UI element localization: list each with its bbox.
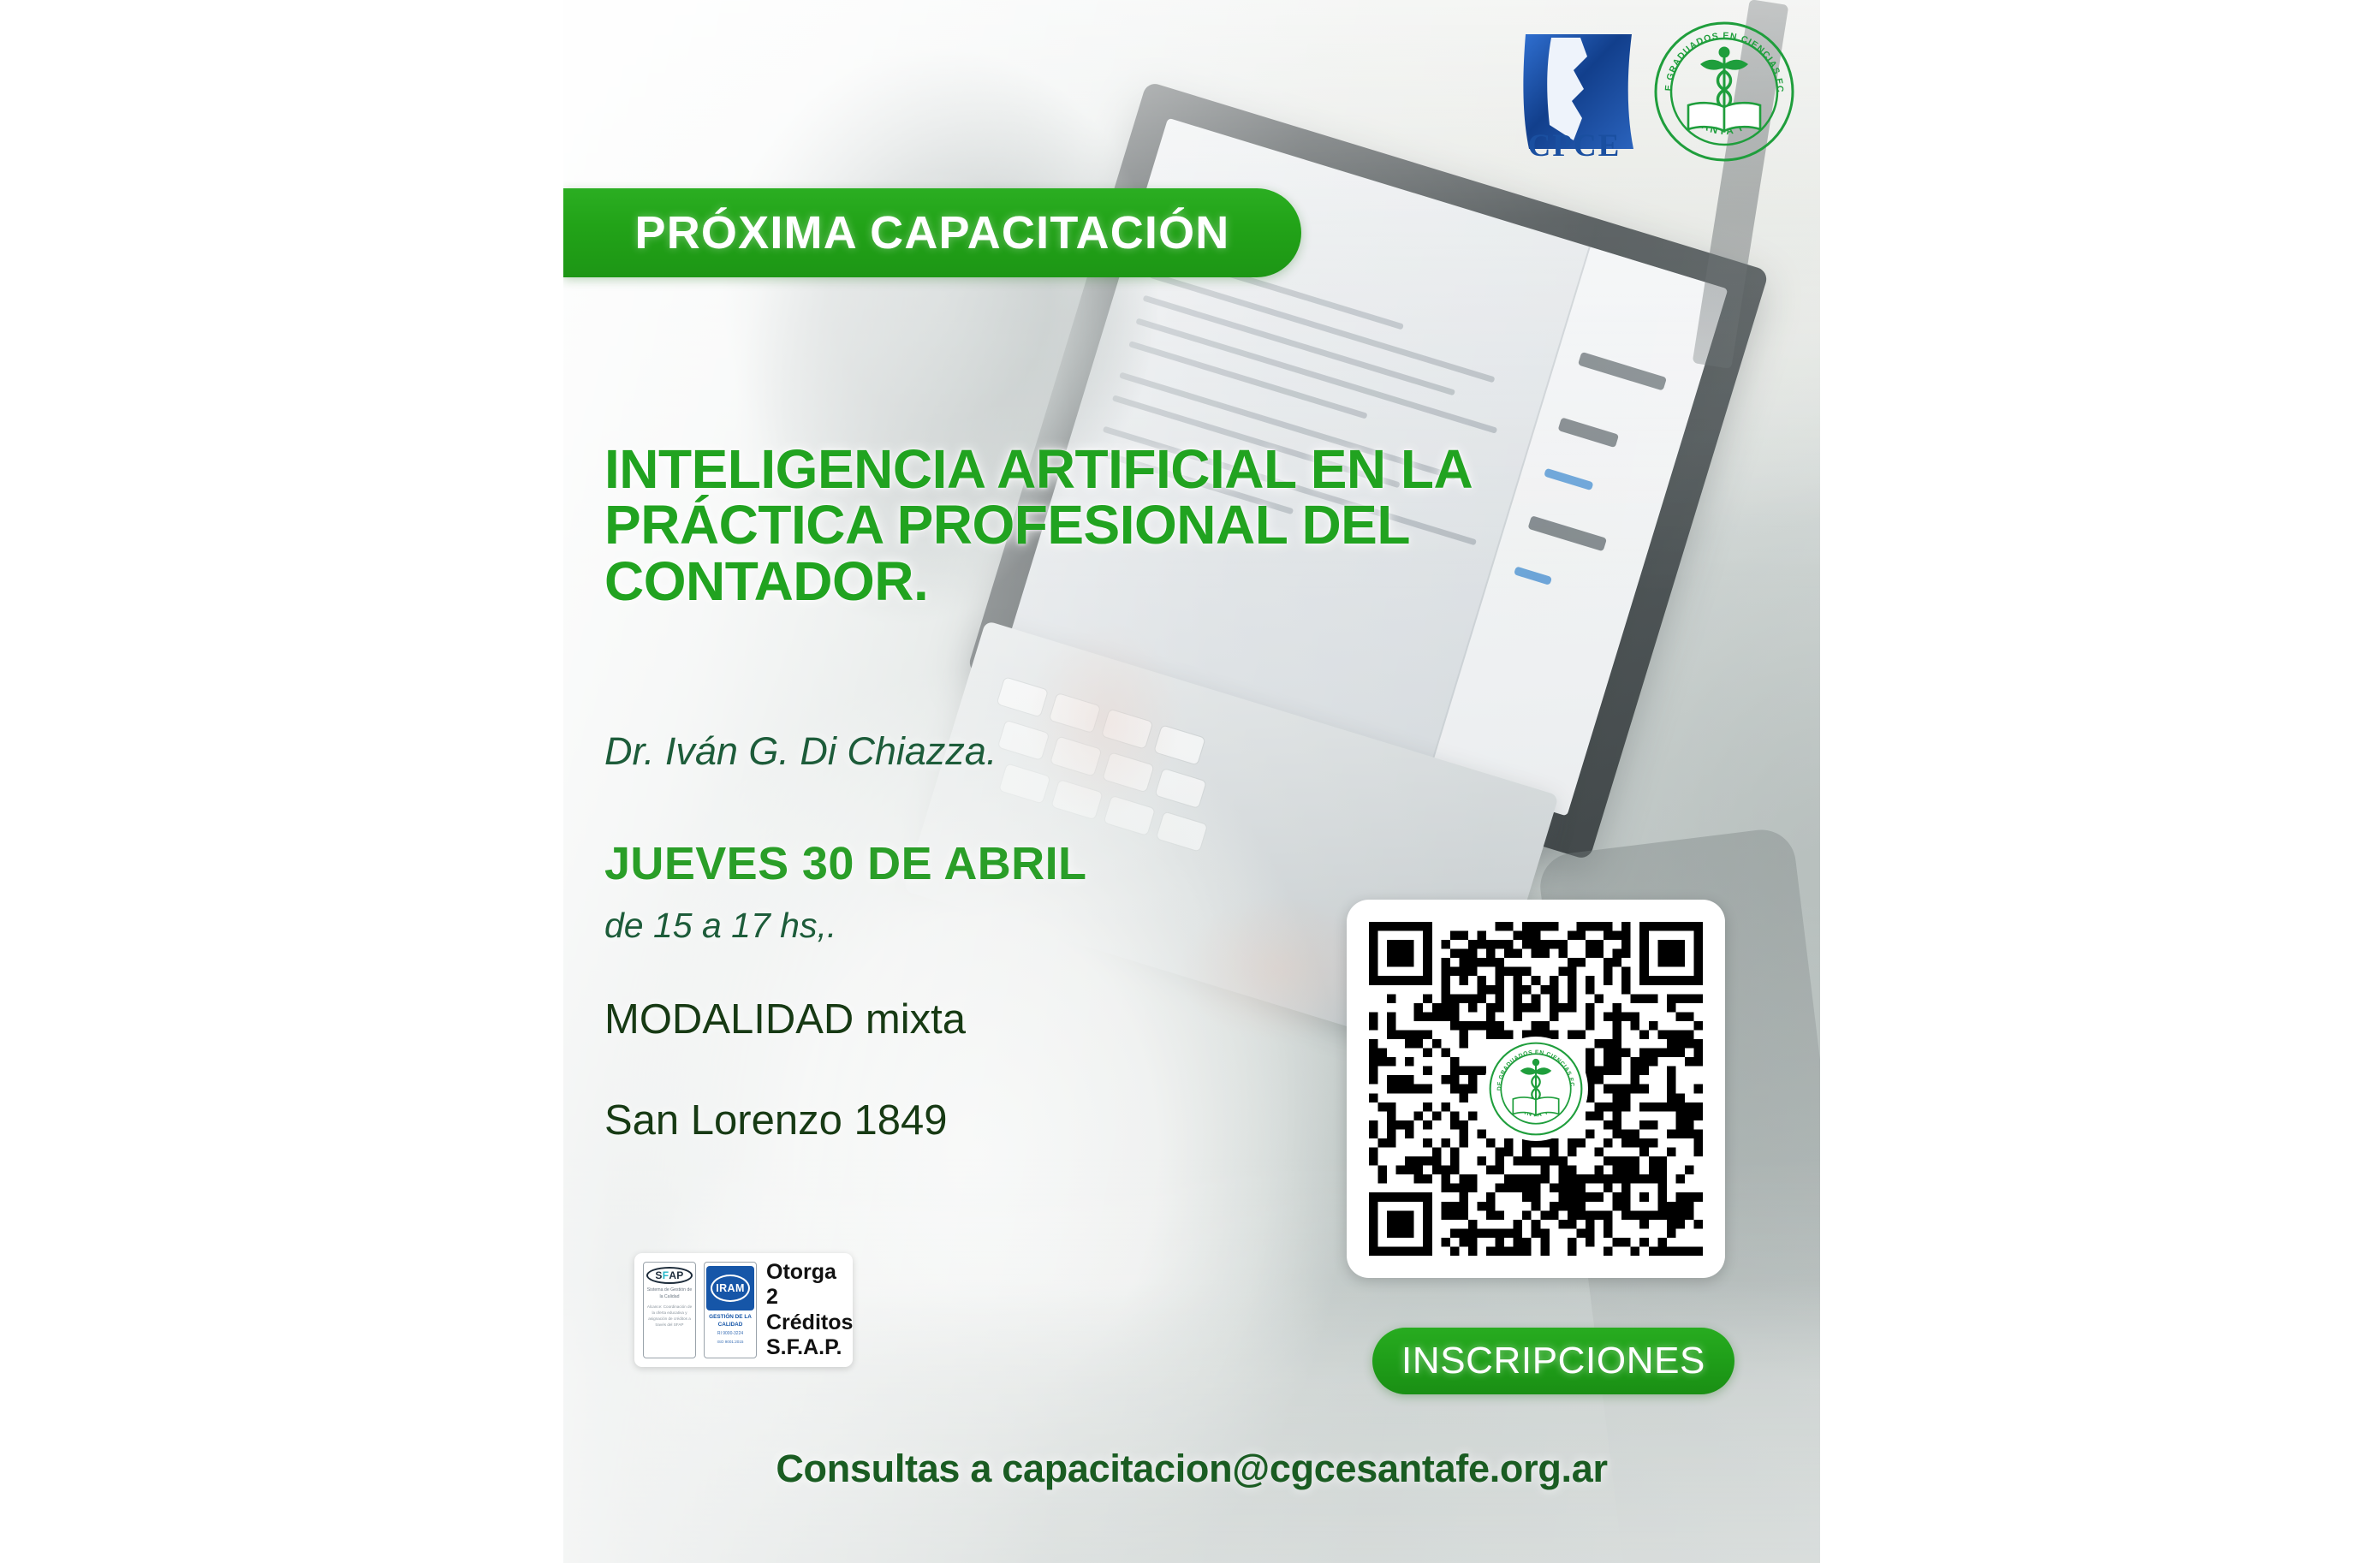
sfap-caption-2: Alcance: Coordinación de la oferta educa…	[646, 1304, 693, 1328]
iram-word: IRAM	[716, 1282, 745, 1294]
iram-badge-icon: IRAM	[706, 1266, 754, 1310]
event-modality: MODALIDAD mixta	[604, 995, 966, 1043]
screenshot-canvas: CPCE COLEGIO DE GRADUADOS EN CIENCIAS EC…	[0, 0, 2380, 1563]
sfap-logo: SFAP Sistema de Gestión de la Calidad Al…	[643, 1262, 696, 1358]
proxima-capacitacion-banner: PRÓXIMA CAPACITACIÓN	[563, 188, 1301, 277]
event-date: JUEVES 30 DE ABRIL	[604, 837, 1086, 890]
title-line-1: INTELIGENCIA ARTIFICIAL EN LA	[604, 442, 1615, 497]
cgce-santa-fe-seal: COLEGIO DE GRADUADOS EN CIENCIAS ECONOMI…	[1652, 20, 1796, 163]
credits-text: Otorga 2 Créditos S.F.A.P.	[766, 1260, 853, 1360]
qr-center-logo: COLEGIO DE GRADUADOS EN CIENCIAS ECONOMI…	[1484, 1037, 1588, 1141]
banner-label: PRÓXIMA CAPACITACIÓN	[635, 206, 1230, 259]
iram-ring-icon: IRAM	[711, 1275, 750, 1302]
sfap-caption-1: Sistema de Gestión de la Calidad	[646, 1287, 693, 1300]
credits-line-3: S.F.A.P.	[766, 1335, 853, 1360]
title-line-2: PRÁCTICA PROFESIONAL DEL	[604, 497, 1615, 553]
sfap-credits-badge: SFAP Sistema de Gestión de la Calidad Al…	[634, 1253, 853, 1367]
registration-qr-code[interactable]: COLEGIO DE GRADUADOS EN CIENCIAS ECONOMI…	[1347, 900, 1725, 1278]
event-time: de 15 a 17 hs,.	[604, 906, 836, 946]
speaker-name: Dr. Iván G. Di Chiazza.	[604, 729, 997, 774]
iram-line-1: GESTIÓN DE LA CALIDAD	[706, 1314, 754, 1328]
inscripciones-button[interactable]: INSCRIPCIONES	[1372, 1328, 1734, 1394]
inscripciones-label: INSCRIPCIONES	[1401, 1340, 1705, 1382]
event-address: San Lorenzo 1849	[604, 1096, 948, 1144]
credits-line-2: Créditos	[766, 1310, 853, 1335]
iram-line-2: RI 9000-3224	[717, 1331, 743, 1338]
page-title: INTELIGENCIA ARTIFICIAL EN LA PRÁCTICA P…	[604, 442, 1615, 609]
contact-line: Consultas a capacitacion@cgcesantafe.org…	[563, 1447, 1820, 1491]
cgce-seal-icon-small: COLEGIO DE GRADUADOS EN CIENCIAS ECONOMI…	[1485, 1038, 1586, 1139]
logo-group: CPCE COLEGIO DE GRADUADOS EN CIENCIAS EC…	[1520, 15, 1796, 168]
cpce-logo: CPCE	[1520, 15, 1645, 168]
credits-line-1: Otorga 2	[766, 1260, 853, 1310]
iram-logo: IRAM GESTIÓN DE LA CALIDAD RI 9000-3224 …	[704, 1262, 757, 1358]
title-line-3: CONTADOR.	[604, 554, 1615, 609]
capacitacion-poster: CPCE COLEGIO DE GRADUADOS EN CIENCIAS EC…	[563, 0, 1820, 1563]
cpce-acronym: CPCE	[1524, 128, 1625, 164]
sfap-oval-icon: SFAP	[646, 1267, 693, 1284]
iram-line-3: ISO 9001:2015	[717, 1340, 744, 1344]
qr-grid: COLEGIO DE GRADUADOS EN CIENCIAS ECONOMI…	[1369, 922, 1703, 1256]
cgce-seal-icon: COLEGIO DE GRADUADOS EN CIENCIAS ECONOMI…	[1652, 20, 1796, 163]
